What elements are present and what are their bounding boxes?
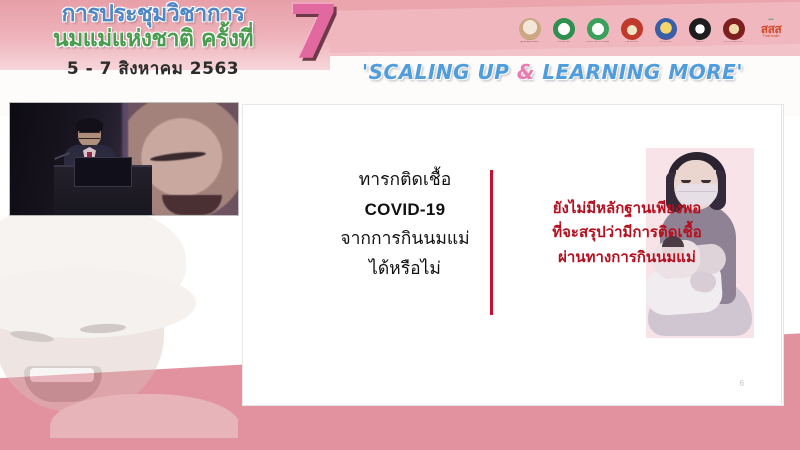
pediatric-society-icon: [621, 18, 643, 40]
answer-text: ยังไม่มีหลักฐานเพียงพอ ที่จะสรุปว่ามีการ…: [500, 196, 754, 269]
baby-watermark-image: [0, 208, 238, 438]
answer-line-2: ที่จะสรุปว่ามีการติดเชื้อ: [500, 220, 754, 244]
ministry-health-icon: [553, 18, 575, 40]
logo-caption: สำนักงาน: [660, 41, 671, 44]
tagline-text-part1: 'SCALING UP: [362, 60, 517, 84]
conference-dates: 5 - 7 สิงหาคม 2563: [18, 55, 288, 82]
thaihealth-subtext: ThaiHealth: [763, 35, 780, 39]
logo-caption: มูลนิธิศูนย์นมแม่: [520, 41, 538, 44]
ministry-of-public-health-logo: กรมอนามัย: [550, 18, 577, 48]
mother-left-eye: [681, 180, 691, 183]
unicef-icon: [689, 18, 711, 40]
thai-pediatric-society-logo: ราชวิทยาลัย: [618, 18, 645, 48]
question-line-1: ทารกติดเชื้อ: [330, 165, 480, 195]
question-line-4: ได้หรือไม่: [330, 254, 480, 284]
conference-title-line-1: การประชุมวิชาการ: [18, 2, 288, 26]
royal-emblem-icon: [519, 18, 541, 40]
logo-caption: ราชวิทยาลัย: [625, 41, 639, 44]
laptop: [74, 157, 132, 187]
red-divider-rule: [490, 170, 493, 315]
face-mask-fold: [678, 191, 716, 192]
garuda-icon: [655, 18, 677, 40]
logo-caption: กรมอนามัย: [557, 41, 570, 44]
tagline-ampersand: &: [517, 60, 535, 84]
health-department-logo: กระทรวงสาธารณสุข: [584, 18, 611, 48]
royal-emblem-logo: มูลนิธิศูนย์นมแม่: [516, 18, 543, 48]
baby-teeth-shape: [30, 368, 94, 382]
conference-edition-number: 7: [288, 0, 340, 76]
glasses-icon: [79, 132, 100, 139]
nursing-council-icon: [723, 18, 745, 40]
tagline-text-part2: LEARNING MORE': [535, 60, 743, 84]
mother-right-eye: [701, 180, 711, 183]
speaker-hair: [76, 118, 103, 133]
royal-garuda-logo: สำนักงาน: [652, 18, 679, 48]
health-department-icon: [587, 18, 609, 40]
presentation-slide: การประชุมวิชาการ นมแม่แห่งชาติ ครั้งที่ …: [0, 0, 800, 450]
nursing-council-logo: สภาการพยาบาล: [720, 18, 747, 48]
slide-number: 6: [740, 379, 744, 388]
unicef-thailand-logo: องค์กร: [686, 18, 713, 48]
logo-caption: กระทรวงสาธารณสุข: [586, 41, 609, 44]
thaihealth-sso-logo: ••• สสส ThaiHealth: [754, 18, 788, 48]
answer-line-3: ผ่านทางการกินนมแม่: [500, 245, 754, 269]
conference-title-line-2: นมแม่แห่งชาติ ครั้งที่: [18, 27, 288, 51]
logo-caption: สภาการพยาบาล: [724, 41, 743, 44]
answer-line-1: ยังไม่มีหลักฐานเพียงพอ: [500, 196, 754, 220]
logo-caption: องค์กร: [696, 41, 704, 44]
conference-title: การประชุมวิชาการ นมแม่แห่งชาติ ครั้งที่ …: [18, 2, 288, 82]
speaker-camera-feed[interactable]: [10, 103, 238, 215]
sponsor-logo-row: มูลนิธิศูนย์นมแม่ กรมอนามัย กระทรวงสาธาร…: [516, 18, 788, 48]
conference-tagline: 'SCALING UP & LEARNING MORE': [362, 60, 743, 84]
question-line-3: จากการกินนมแม่: [330, 224, 480, 254]
question-text: ทารกติดเชื้อ COVID-19 จากการกินนมแม่ ได้…: [330, 165, 480, 285]
question-line-2: COVID-19: [330, 195, 480, 224]
content-right-divider: [781, 104, 782, 404]
